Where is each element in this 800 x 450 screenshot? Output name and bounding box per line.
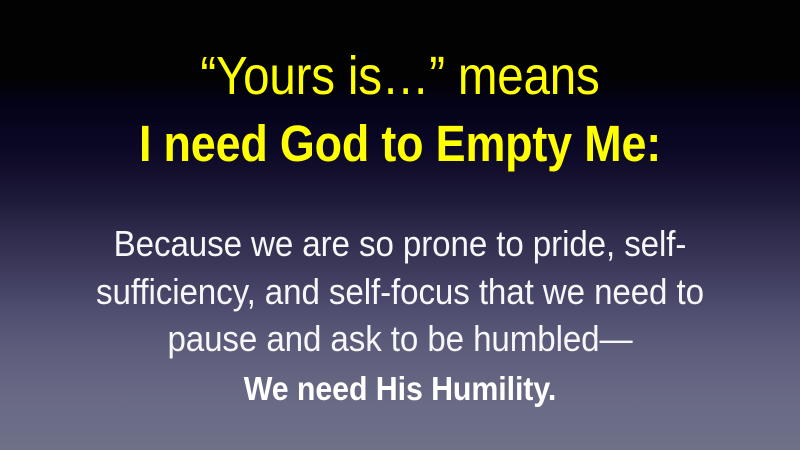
body-line-2: sufficiency, and self-focus that we need… (78, 268, 722, 316)
title-line-1: “Yours is…” means (48, 48, 752, 105)
presentation-slide: “Yours is…” means I need God to Empty Me… (0, 0, 800, 450)
title-line-2: I need God to Empty Me: (48, 115, 752, 172)
body-line-4-emphasis: We need His Humility. (78, 368, 722, 411)
slide-content: “Yours is…” means I need God to Empty Me… (0, 0, 800, 450)
body-line-1: Because we are so prone to pride, self- (78, 220, 722, 268)
body-line-3: pause and ask to be humbled— (78, 315, 722, 363)
slide-title-block: “Yours is…” means I need God to Empty Me… (0, 48, 800, 172)
slide-body-block: Because we are so prone to pride, self- … (50, 220, 750, 410)
